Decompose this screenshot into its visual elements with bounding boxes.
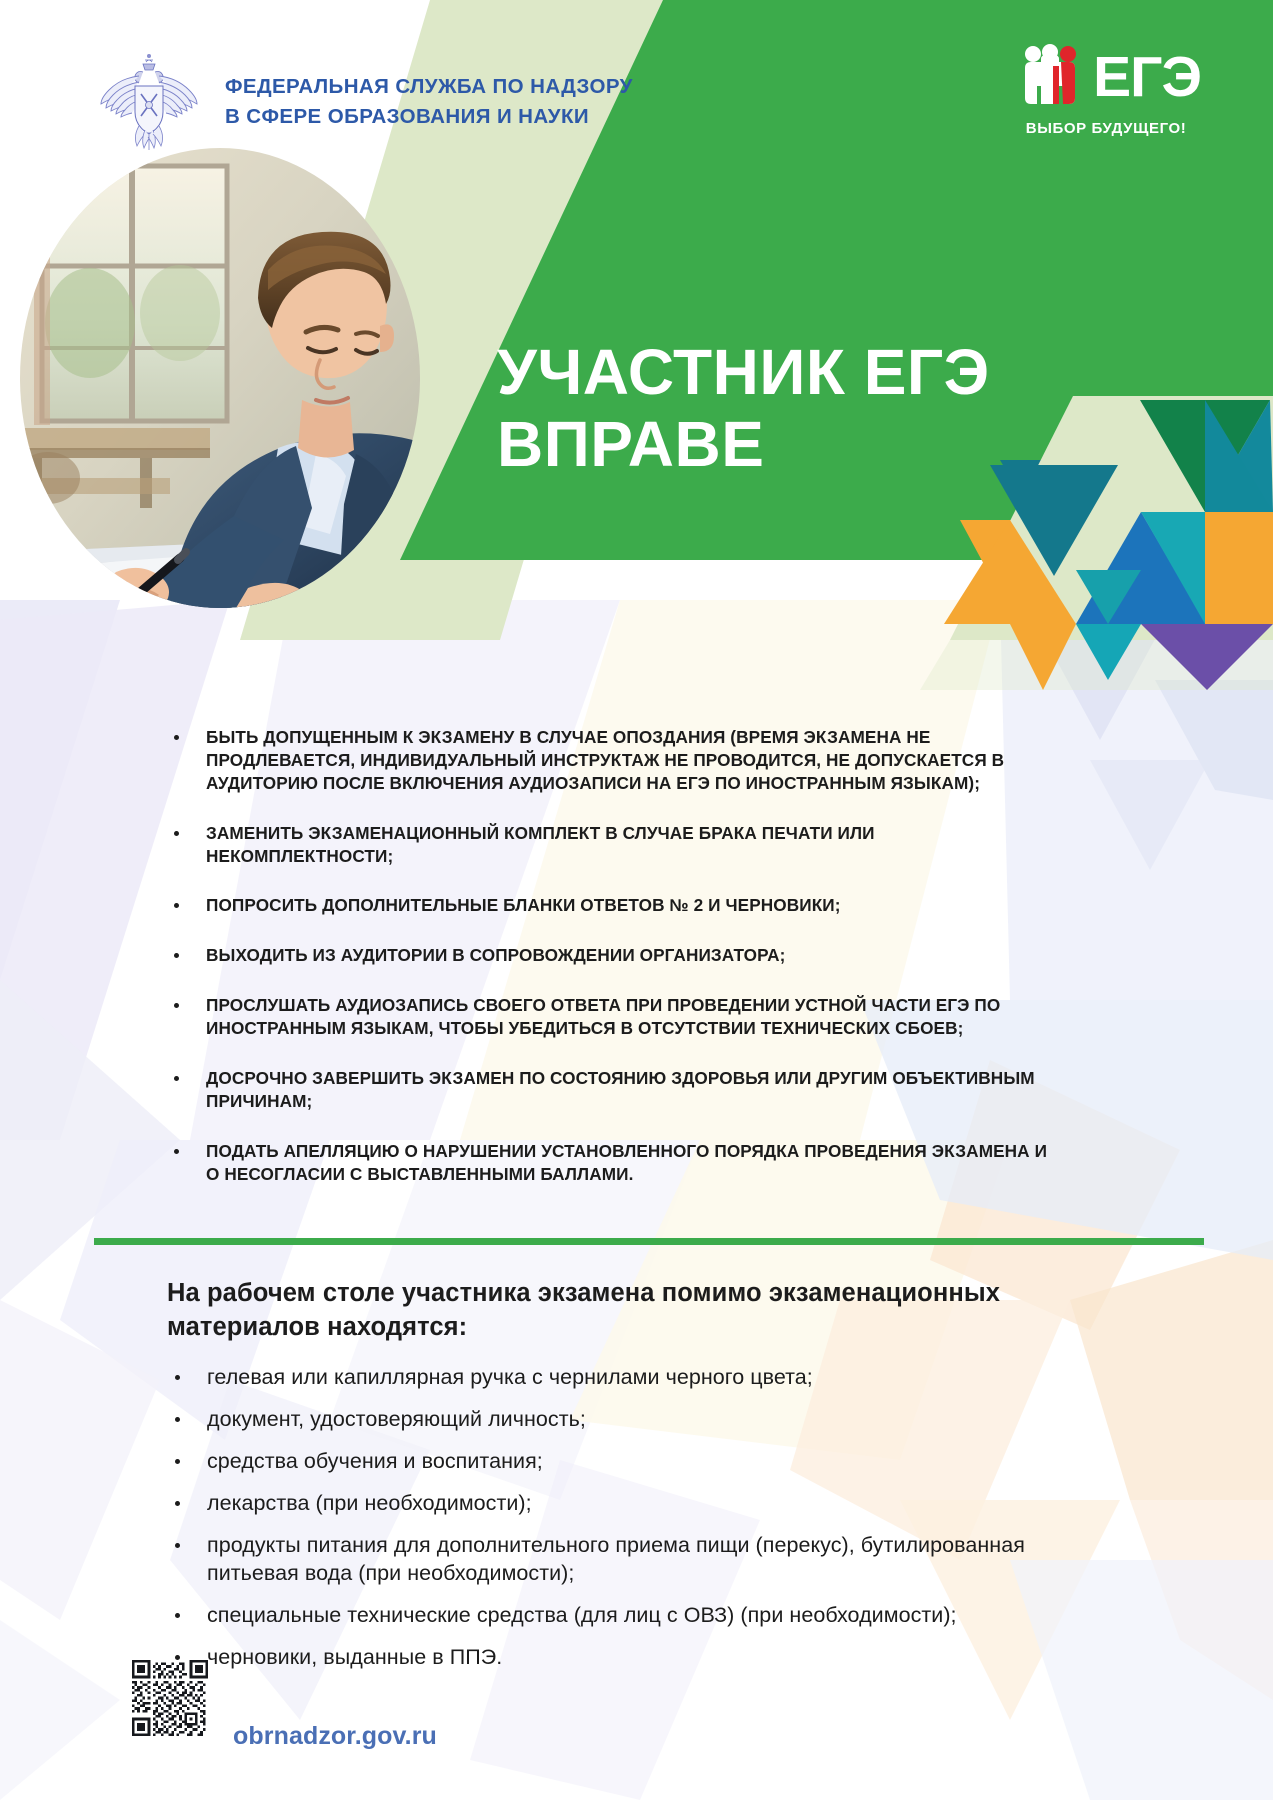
list-item-text: лекарства (при необходимости); xyxy=(207,1491,532,1515)
list-item-text: документ, удостоверяющий личность; xyxy=(207,1407,586,1431)
bullet-icon xyxy=(174,735,179,740)
list-item-text: специальные технические средства (для ли… xyxy=(207,1603,957,1627)
agency-name-line-1: ФЕДЕРАЛЬНАЯ СЛУЖБА ПО НАДЗОРУ xyxy=(225,72,633,102)
bullet-icon xyxy=(175,1375,180,1380)
list-item: лекарства (при необходимости); xyxy=(168,1490,1068,1518)
website-url-link[interactable]: obrnadzor.gov.ru xyxy=(233,1722,437,1751)
list-item-text: ЗАМЕНИТЬ ЭКЗАМЕНАЦИОННЫЙ КОМПЛЕКТ В СЛУЧ… xyxy=(206,823,875,866)
list-item: средства обучения и воспитания; xyxy=(168,1448,1068,1476)
list-item: ПОДАТЬ АПЕЛЛЯЦИЮ О НАРУШЕНИИ УСТАНОВЛЕНН… xyxy=(168,1140,1058,1186)
bullet-icon xyxy=(174,1003,179,1008)
page-title: УЧАСТНИК ЕГЭ ВПРАВЕ xyxy=(497,337,990,480)
bullet-icon xyxy=(174,1076,179,1081)
list-item: гелевая или капиллярная ручка с чернилам… xyxy=(168,1364,1068,1392)
student-writing-exam-photo xyxy=(20,148,420,608)
agency-name-line-2: В СФЕРЕ ОБРАЗОВАНИЯ И НАУКИ xyxy=(225,102,633,132)
list-item: ДОСРОЧНО ЗАВЕРШИТЬ ЭКЗАМЕН ПО СОСТОЯНИЮ … xyxy=(168,1067,1058,1113)
list-item-text: ПРОСЛУШАТЬ АУДИОЗАПИСЬ СВОЕГО ОТВЕТА ПРИ… xyxy=(206,995,1000,1038)
bullet-icon xyxy=(175,1459,180,1464)
double-headed-eagle-emblem-icon xyxy=(95,52,203,152)
bullet-icon xyxy=(175,1613,180,1618)
bullet-icon xyxy=(175,1501,180,1506)
ege-logo-mark: ЕГЭ xyxy=(1011,42,1201,113)
bullet-icon xyxy=(175,1417,180,1422)
desk-section-heading: На рабочем столе участника экзамена поми… xyxy=(167,1277,1047,1344)
agency-name: ФЕДЕРАЛЬНАЯ СЛУЖБА ПО НАДЗОРУ В СФЕРЕ ОБ… xyxy=(225,72,633,131)
list-item-text: ПОПРОСИТЬ ДОПОЛНИТЕЛЬНЫЕ БЛАНКИ ОТВЕТОВ … xyxy=(206,895,841,915)
qr-code-icon[interactable] xyxy=(132,1660,208,1736)
list-item-text: гелевая или капиллярная ручка с чернилам… xyxy=(207,1365,813,1389)
ege-logo: ЕГЭ ВЫБОР БУДУЩЕГО! xyxy=(1011,42,1201,137)
bullet-icon xyxy=(174,1149,179,1154)
list-item-text: продукты питания для дополнительного при… xyxy=(207,1533,1025,1585)
section-divider xyxy=(94,1238,1204,1245)
ege-people-icon xyxy=(1011,42,1089,113)
list-item-text: БЫТЬ ДОПУЩЕННЫМ К ЭКЗАМЕНУ В СЛУЧАЕ ОПОЗ… xyxy=(206,727,1004,793)
list-item: специальные технические средства (для ли… xyxy=(168,1602,1068,1630)
list-item: черновики, выданные в ППЭ. xyxy=(168,1644,1068,1672)
desk-items-list: гелевая или капиллярная ручка с чернилам… xyxy=(168,1364,1068,1672)
bullet-icon xyxy=(174,903,179,908)
list-item: продукты питания для дополнительного при… xyxy=(168,1532,1068,1588)
list-item: документ, удостоверяющий личность; xyxy=(168,1406,1068,1434)
bullet-icon xyxy=(175,1655,180,1660)
poster-root: ФЕДЕРАЛЬНАЯ СЛУЖБА ПО НАДЗОРУ В СФЕРЕ ОБ… xyxy=(0,0,1273,1800)
list-item-text: ПОДАТЬ АПЕЛЛЯЦИЮ О НАРУШЕНИИ УСТАНОВЛЕНН… xyxy=(206,1141,1047,1184)
list-item: ВЫХОДИТЬ ИЗ АУДИТОРИИ В СОПРОВОЖДЕНИИ ОР… xyxy=(168,944,1058,967)
agency-identity: ФЕДЕРАЛЬНАЯ СЛУЖБА ПО НАДЗОРУ В СФЕРЕ ОБ… xyxy=(95,52,633,152)
list-item: ПОПРОСИТЬ ДОПОЛНИТЕЛЬНЫЕ БЛАНКИ ОТВЕТОВ … xyxy=(168,894,1058,917)
bullet-icon xyxy=(175,1543,180,1548)
bullet-icon xyxy=(174,953,179,958)
ege-logo-word: ЕГЭ xyxy=(1093,51,1201,103)
list-item-text: средства обучения и воспитания; xyxy=(207,1449,543,1473)
list-item-text: ВЫХОДИТЬ ИЗ АУДИТОРИИ В СОПРОВОЖДЕНИИ ОР… xyxy=(206,945,785,965)
list-item-text: ДОСРОЧНО ЗАВЕРШИТЬ ЭКЗАМЕН ПО СОСТОЯНИЮ … xyxy=(206,1068,1035,1111)
list-item-text: черновики, выданные в ППЭ. xyxy=(207,1645,502,1669)
ege-logo-tagline: ВЫБОР БУДУЩЕГО! xyxy=(1011,120,1201,137)
list-item: БЫТЬ ДОПУЩЕННЫМ К ЭКЗАМЕНУ В СЛУЧАЕ ОПОЗ… xyxy=(168,726,1058,795)
list-item: ПРОСЛУШАТЬ АУДИОЗАПИСЬ СВОЕГО ОТВЕТА ПРИ… xyxy=(168,994,1058,1040)
rights-list: БЫТЬ ДОПУЩЕННЫМ К ЭКЗАМЕНУ В СЛУЧАЕ ОПОЗ… xyxy=(168,726,1058,1185)
bullet-icon xyxy=(174,831,179,836)
list-item: ЗАМЕНИТЬ ЭКЗАМЕНАЦИОННЫЙ КОМПЛЕКТ В СЛУЧ… xyxy=(168,822,1058,868)
